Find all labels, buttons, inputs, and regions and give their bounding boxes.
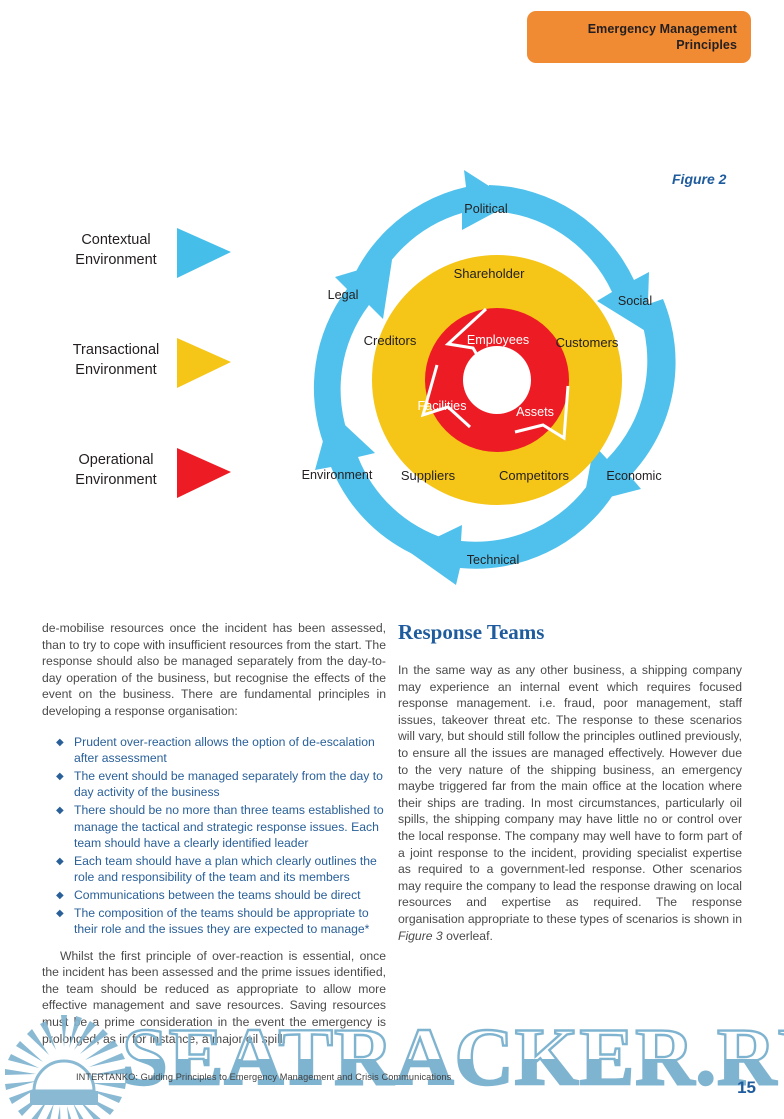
legend-label-line1: Operational: [56, 450, 176, 470]
legend-label-line1: Transactional: [56, 340, 176, 360]
bullet-item: ◆The event should be managed separately …: [56, 768, 386, 801]
outer-label-economic: Economic: [606, 469, 661, 483]
figure-legend: Contextual Environment Transactional Env…: [56, 222, 256, 552]
left-paragraph-1: de-mobilise resources once the incident …: [42, 620, 386, 720]
right-text-column: Response Teams In the same way as any ot…: [398, 620, 742, 953]
left-paragraph-2: Whilst the first principle of over-react…: [42, 948, 386, 1048]
header-title-line1: Emergency Management: [588, 21, 737, 37]
right-paragraph-1: In the same way as any other business, a…: [398, 662, 742, 944]
right-paragraph-part1: In the same way as any other business, a…: [398, 663, 742, 926]
bullet-item: ◆Prudent over-reaction allows the option…: [56, 734, 386, 767]
bullet-text: The composition of the teams should be a…: [74, 906, 369, 937]
section-heading-response-teams: Response Teams: [398, 620, 742, 644]
bullet-text: Prudent over-reaction allows the option …: [74, 735, 375, 766]
inner-ring-hole: [463, 346, 531, 414]
figure-reference: Figure 3: [398, 929, 443, 943]
legend-label-line2: Environment: [56, 470, 176, 490]
middle-label-customers: Customers: [556, 335, 619, 350]
triangle-right-icon: [175, 446, 233, 500]
legend-label-operational: Operational Environment: [56, 450, 176, 490]
inner-label-assets: Assets: [516, 405, 554, 419]
inner-label-facilities: Facilities: [418, 399, 467, 413]
middle-label-suppliers: Suppliers: [401, 468, 456, 483]
bullet-text: The event should be managed separately f…: [74, 769, 383, 800]
environment-circles-diagram: Political Social Economic Technical Envi…: [282, 168, 712, 592]
diamond-bullet-icon: ◆: [56, 854, 64, 871]
legend-label-line2: Environment: [56, 250, 176, 270]
header-title-line2: Principles: [676, 37, 737, 53]
bullet-item: ◆Communications between the teams should…: [56, 887, 386, 904]
legend-label-transactional: Transactional Environment: [56, 340, 176, 380]
legend-label-contextual: Contextual Environment: [56, 230, 176, 270]
legend-label-line1: Contextual: [56, 230, 176, 250]
right-paragraph-part2: overleaf.: [443, 929, 493, 943]
triangle-right-icon: [175, 226, 233, 280]
diagram-svg: Political Social Economic Technical Envi…: [282, 168, 712, 592]
bullet-text: There should be no more than three teams…: [74, 803, 384, 850]
diamond-bullet-icon: ◆: [56, 906, 64, 923]
header-tab: Emergency Management Principles: [527, 11, 751, 63]
diamond-bullet-icon: ◆: [56, 735, 64, 752]
document-page: Emergency Management Principles Figure 2…: [0, 0, 784, 1119]
left-text-column: de-mobilise resources once the incident …: [42, 620, 386, 1056]
middle-label-competitors: Competitors: [499, 468, 570, 483]
legend-label-line2: Environment: [56, 360, 176, 380]
outer-label-environment: Environment: [302, 468, 373, 482]
diamond-bullet-icon: ◆: [56, 803, 64, 820]
footer-source-text: INTERTANKO: Guiding Principles to Emerge…: [76, 1072, 451, 1082]
legend-item-contextual: Contextual Environment: [56, 222, 256, 332]
outer-label-political: Political: [464, 202, 507, 216]
bullet-item: ◆The composition of the teams should be …: [56, 905, 386, 938]
middle-label-creditors: Creditors: [364, 333, 417, 348]
diamond-bullet-icon: ◆: [56, 769, 64, 786]
legend-item-transactional: Transactional Environment: [56, 332, 256, 442]
middle-label-shareholder: Shareholder: [454, 266, 525, 281]
page-number: 15: [737, 1078, 756, 1098]
bullet-text: Each team should have a plan which clear…: [74, 854, 377, 885]
bullet-text: Communications between the teams should …: [74, 888, 361, 902]
bullet-item: ◆Each team should have a plan which clea…: [56, 853, 386, 886]
triangle-right-icon: [175, 336, 233, 390]
outer-label-social: Social: [618, 294, 652, 308]
diamond-bullet-icon: ◆: [56, 888, 64, 905]
legend-item-operational: Operational Environment: [56, 442, 256, 552]
outer-label-legal: Legal: [328, 288, 359, 302]
bullet-item: ◆There should be no more than three team…: [56, 802, 386, 852]
outer-label-technical: Technical: [467, 553, 520, 567]
inner-label-employees: Employees: [467, 333, 529, 347]
principles-bullet-list: ◆Prudent over-reaction allows the option…: [42, 734, 386, 938]
